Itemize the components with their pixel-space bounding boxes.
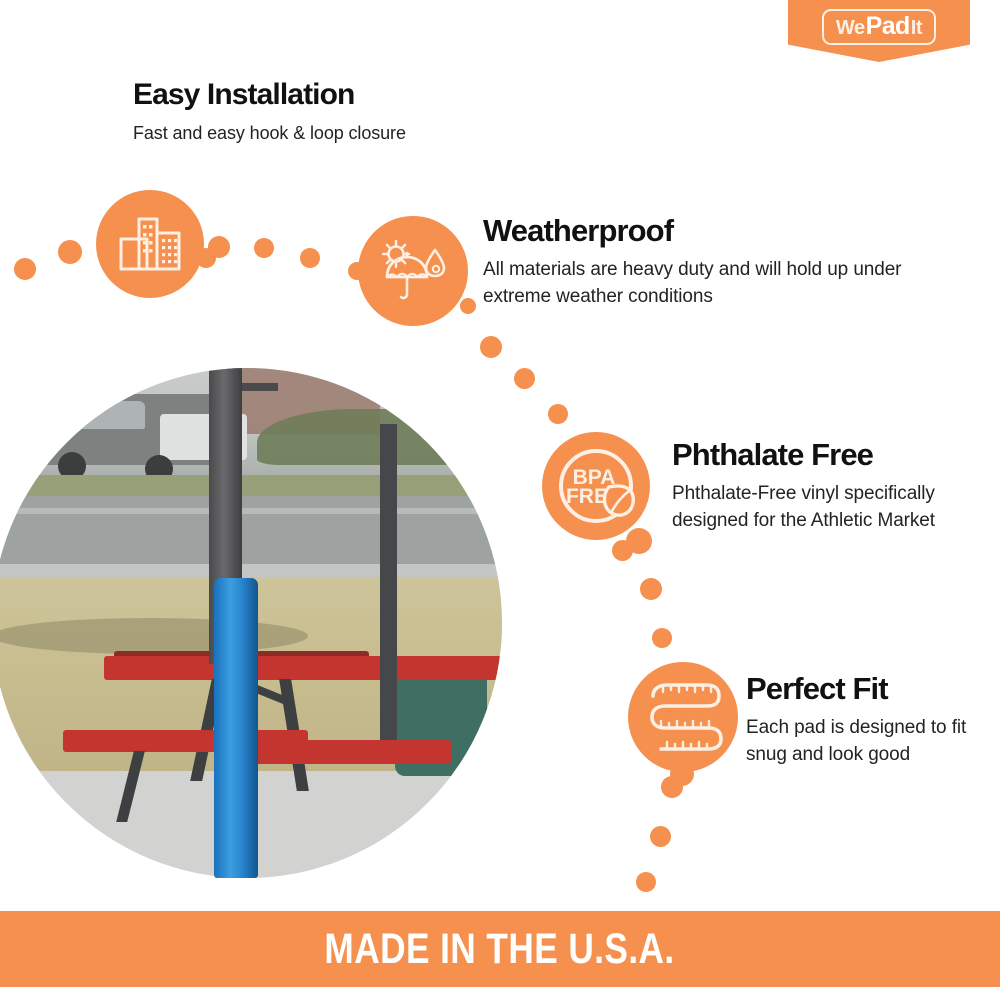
feature-desc-phthalate-free: Phthalate-Free vinyl specifically design… <box>672 481 972 535</box>
trail-dot <box>548 404 568 424</box>
feature-title-weatherproof: Weatherproof <box>483 214 903 249</box>
brand-logo-pad: Pad <box>866 14 910 39</box>
trail-dot <box>650 826 671 847</box>
brand-logo-it: It <box>911 18 922 38</box>
icon-circle-weatherproof <box>358 216 468 326</box>
made-in-usa-text: MADE IN THE U.S.A. <box>325 925 675 974</box>
trail-dot <box>300 248 320 268</box>
icon-circle-perfect-fit <box>628 662 738 772</box>
trail-dot <box>254 238 274 258</box>
bubble-nub <box>196 248 216 268</box>
infographic-page: We Pad It Easy Installation Fast and eas… <box>0 0 1000 987</box>
brand-logo-box: We Pad It <box>822 9 936 45</box>
trail-dot <box>58 240 82 264</box>
sun-umbrella-raindrop-icon <box>379 240 447 302</box>
feature-block-phthalate-free: Phthalate Free Phthalate-Free vinyl spec… <box>672 438 972 535</box>
blue-pole-pad <box>214 578 258 878</box>
trail-dot <box>640 578 662 600</box>
feature-desc-easy-installation: Fast and easy hook & loop closure <box>133 121 406 147</box>
trail-dot <box>14 258 36 280</box>
brand-logo-we: We <box>836 18 865 38</box>
feature-desc-perfect-fit: Each pad is designed to fit snug and loo… <box>746 715 986 769</box>
building-installation-icon <box>119 217 181 271</box>
trail-dot <box>514 368 535 389</box>
made-in-usa-banner: MADE IN THE U.S.A. <box>0 911 1000 987</box>
feature-title-phthalate-free: Phthalate Free <box>672 438 972 473</box>
trail-dot <box>652 628 672 648</box>
feature-title-perfect-fit: Perfect Fit <box>746 672 986 707</box>
feature-block-easy-installation: Easy Installation Fast and easy hook & l… <box>133 78 406 146</box>
bubble-nub <box>670 762 694 786</box>
bubble-nub <box>460 298 476 314</box>
feature-block-perfect-fit: Perfect Fit Each pad is designed to fit … <box>746 672 986 769</box>
feature-title-easy-installation: Easy Installation <box>133 78 406 112</box>
feature-desc-weatherproof: All materials are heavy duty and will ho… <box>483 257 903 311</box>
icon-circle-phthalate-free: BPA FREE <box>542 432 650 540</box>
trail-dot <box>480 336 502 358</box>
bubble-nub <box>348 262 366 280</box>
bubble-nub <box>626 528 652 554</box>
brand-logo-banner: We Pad It <box>788 0 970 62</box>
bpa-free-leaf-icon: BPA FREE <box>553 443 639 529</box>
measuring-tape-icon <box>643 680 723 754</box>
feature-block-weatherproof: Weatherproof All materials are heavy dut… <box>483 214 903 311</box>
trail-dot <box>636 872 656 892</box>
icon-circle-easy-installation <box>96 190 204 298</box>
